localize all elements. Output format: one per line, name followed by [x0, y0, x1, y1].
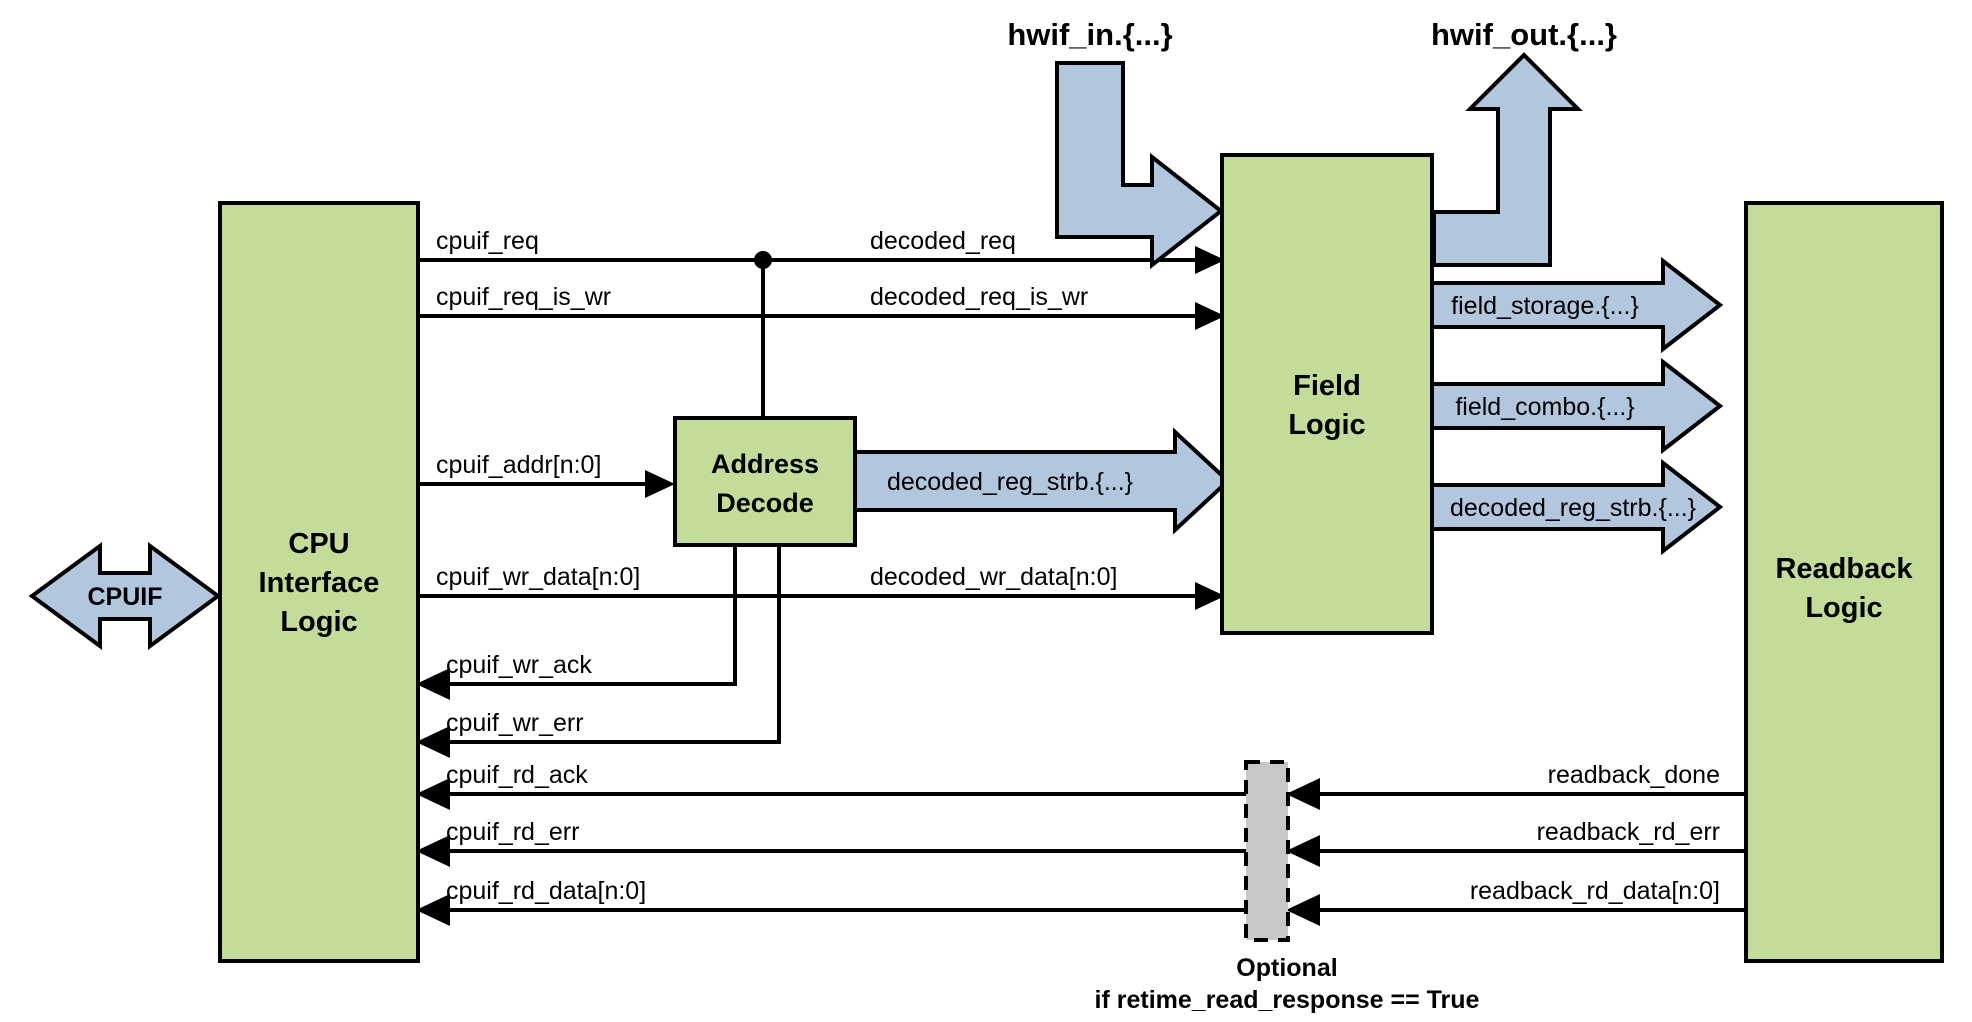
block-label-readback-logic-line2: Logic [1805, 592, 1882, 624]
block-optional-retime[interactable] [1246, 762, 1288, 940]
signal-label-cpuif-rd-data: cpuif_rd_data[n:0] [446, 877, 646, 905]
optional-note-line2: if retime_read_response == True [1095, 986, 1480, 1014]
signal-label-cpuif-wr-err: cpuif_wr_err [446, 709, 584, 737]
block-label-address-decode-line1: Address [711, 449, 819, 479]
port-label-cpuif: CPUIF [88, 583, 163, 611]
signal-label-decoded-req-is-wr: decoded_req_is_wr [870, 283, 1088, 311]
signal-label-cpuif-req: cpuif_req [436, 227, 539, 255]
bus-label-field-combo: field_combo.{...} [1455, 393, 1634, 421]
block-label-cpu-interface-logic-line2: Interface [259, 567, 380, 599]
signal-label-cpuif-addr: cpuif_addr[n:0] [436, 451, 601, 479]
bus-label-decoded-reg-strb-field: decoded_reg_strb.{...} [887, 468, 1133, 496]
block-label-readback-logic-line1: Readback [1775, 553, 1913, 585]
bus-label-decoded-reg-strb-readback: decoded_reg_strb.{...} [1450, 494, 1696, 522]
optional-note-line1: Optional [1236, 954, 1337, 982]
diagram-canvas: CPU Interface Logic Address Decode Field… [0, 0, 1972, 1022]
signal-label-readback-done: readback_done [1548, 761, 1720, 789]
block-label-field-logic-line1: Field [1293, 370, 1361, 402]
wire-junction-dot [754, 251, 772, 269]
port-label-hwif-in: hwif_in.{...} [1007, 17, 1172, 52]
block-label-address-decode-line2: Decode [716, 488, 814, 518]
signal-label-cpuif-rd-ack: cpuif_rd_ack [446, 761, 588, 789]
port-label-hwif-out: hwif_out.{...} [1431, 17, 1617, 52]
signal-label-decoded-req: decoded_req [870, 227, 1016, 255]
signal-label-cpuif-req-is-wr: cpuif_req_is_wr [436, 283, 611, 311]
block-label-cpu-interface-logic-line3: Logic [280, 606, 357, 638]
wire-cpuif-req [418, 246, 1225, 274]
bus-label-field-storage: field_storage.{...} [1451, 292, 1639, 320]
bus-arrow-hwif-out [1434, 55, 1578, 265]
signal-label-cpuif-wr-ack: cpuif_wr_ack [446, 651, 592, 679]
block-label-field-logic-line2: Logic [1288, 409, 1365, 441]
signal-label-cpuif-wr-data: cpuif_wr_data[n:0] [436, 563, 640, 591]
signal-label-readback-rd-data: readback_rd_data[n:0] [1470, 877, 1720, 905]
signal-label-cpuif-rd-err: cpuif_rd_err [446, 818, 579, 846]
wire-cpuif-rd-ack [416, 778, 1746, 810]
block-label-cpu-interface-logic-line1: CPU [288, 528, 349, 560]
block-address-decode[interactable] [675, 418, 855, 545]
signal-label-readback-rd-err: readback_rd_err [1537, 818, 1720, 846]
bus-arrow-hwif-in [1057, 63, 1221, 265]
signal-label-decoded-wr-data: decoded_wr_data[n:0] [870, 563, 1117, 591]
block-diagram-svg: CPU Interface Logic Address Decode Field… [0, 0, 1972, 1022]
